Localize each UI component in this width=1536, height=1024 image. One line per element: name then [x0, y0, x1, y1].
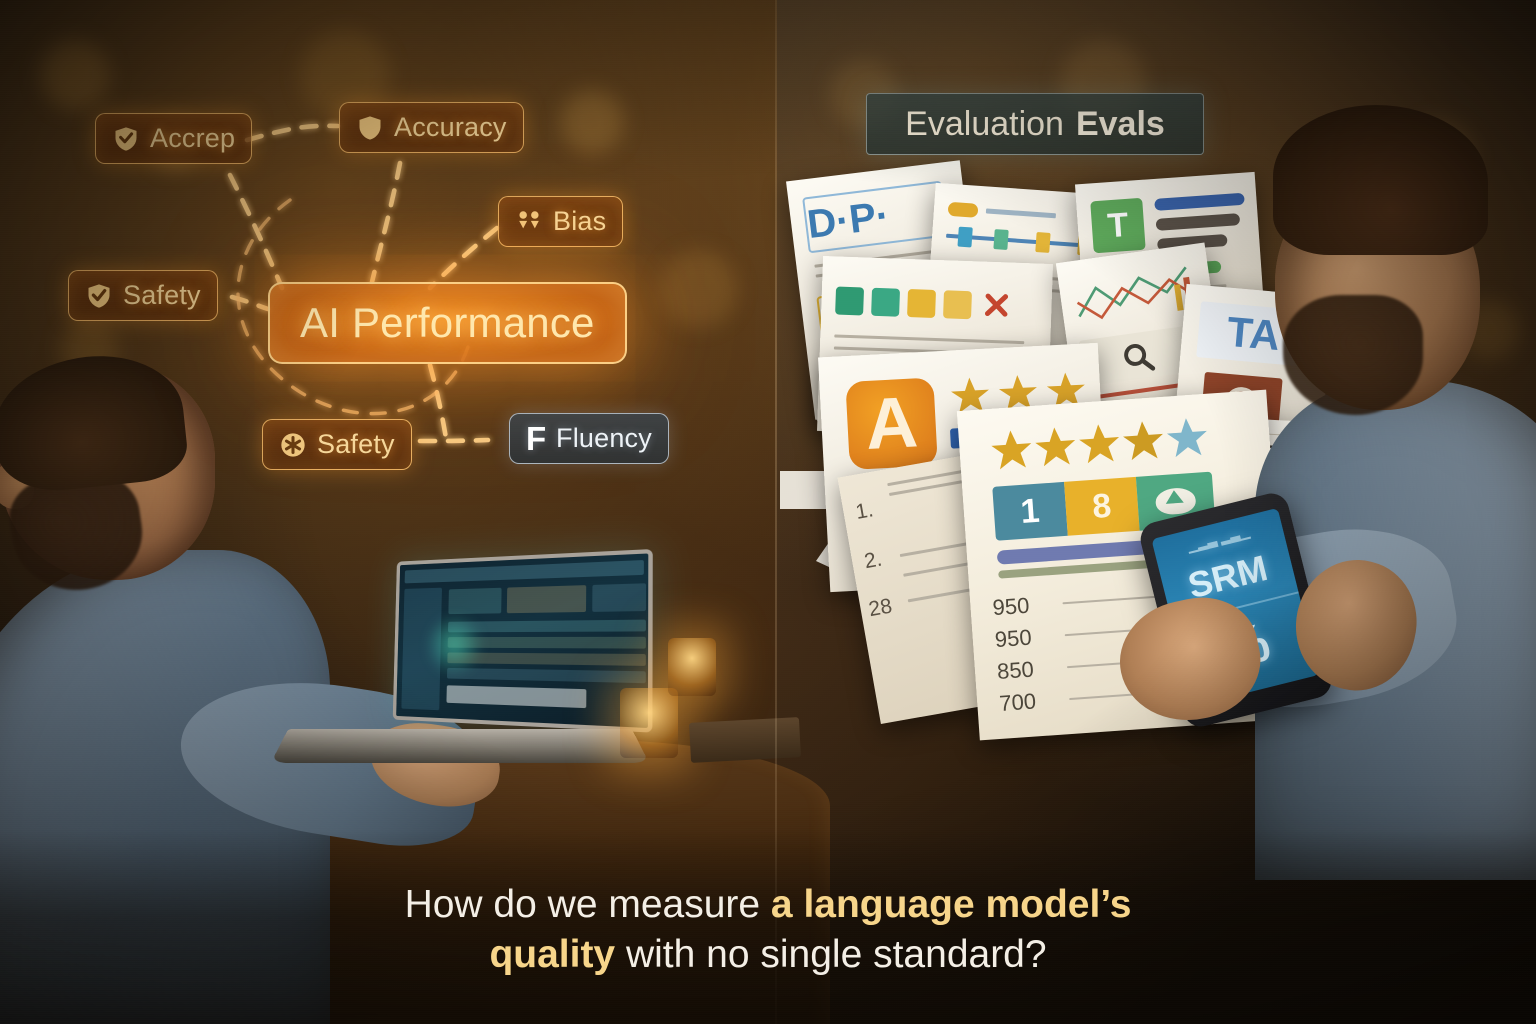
person-holding-phone	[1255, 105, 1536, 865]
legend-chip	[948, 202, 979, 218]
list-number: 2.	[863, 548, 884, 575]
caption-plain: with no single standard?	[615, 933, 1046, 976]
caption-highlight: quality	[489, 933, 615, 976]
dashboard-card	[448, 588, 501, 614]
node-label: Fluency	[556, 423, 652, 454]
shield-check-icon	[112, 125, 140, 153]
node-safety-left[interactable]: Safety	[68, 270, 218, 321]
report-score: 700	[998, 688, 1036, 716]
node-safety-bottom[interactable]: Safety	[262, 419, 412, 470]
node-accrep[interactable]: Accrep	[95, 113, 252, 164]
shield-check-icon	[85, 282, 113, 310]
node-accuracy[interactable]: Accuracy	[339, 102, 524, 153]
report-tile-2: 8	[1064, 477, 1140, 536]
node-label: Accrep	[150, 123, 235, 154]
node-label: Safety	[123, 280, 201, 311]
book-stack	[689, 717, 801, 763]
caption-line-1: How do we measure a language model’s	[0, 880, 1536, 930]
caption-highlight: a language model’s	[771, 883, 1131, 926]
title-regular: Evaluation	[905, 105, 1064, 144]
laptop-screen[interactable]	[393, 549, 653, 733]
title-bold: Evals	[1076, 105, 1165, 144]
caption-plain: How do we measure	[405, 883, 771, 926]
report-tile-1: 1	[992, 482, 1068, 541]
dashboard-topbar	[405, 560, 644, 583]
person-left-hair	[0, 347, 190, 496]
node-label: Bias	[553, 206, 606, 237]
report-score: 950	[992, 593, 1030, 621]
caption-line-2: quality with no single standard?	[0, 930, 1536, 980]
asterisk-circle-icon	[279, 431, 307, 459]
dashboard-card	[507, 585, 586, 613]
doc-headline: A	[845, 377, 937, 469]
list-number: 28	[867, 594, 894, 622]
shield-icon	[356, 114, 384, 142]
report-score: 850	[996, 657, 1034, 685]
people-balance-icon	[515, 208, 543, 236]
caption: How do we measure a language model’s qua…	[0, 880, 1536, 980]
node-label: Safety	[317, 429, 395, 460]
node-ai-performance[interactable]: AI Performance	[268, 282, 627, 364]
candle-large	[668, 638, 716, 696]
laptop-keyboard[interactable]	[271, 729, 649, 763]
poster-canvas: Accrep Accuracy Bias Safety AI Performan…	[0, 0, 1536, 1024]
doc-headline-box	[802, 181, 948, 254]
node-fluency[interactable]: F Fluency	[509, 413, 669, 464]
list-number: 1.	[854, 498, 875, 525]
candle-small	[620, 688, 678, 758]
five-star-rating-icon	[988, 414, 1211, 477]
person-right-hair	[1273, 105, 1488, 255]
node-bias[interactable]: Bias	[498, 196, 623, 247]
node-label: AI Performance	[300, 299, 595, 347]
node-label: Accuracy	[394, 112, 507, 143]
dashboard-input[interactable]	[446, 685, 586, 708]
laptop[interactable]	[270, 555, 670, 805]
evaluation-title-panel: Evaluation Evals	[866, 93, 1204, 155]
doc-headline: T	[1090, 198, 1146, 254]
letter-f-icon: F	[526, 425, 546, 453]
report-score: 950	[994, 625, 1032, 653]
person-right-beard	[1283, 295, 1423, 415]
search-icon	[1117, 337, 1158, 378]
screen-glow	[423, 616, 487, 675]
cross-icon	[981, 290, 1012, 321]
panel-divider	[775, 0, 777, 1024]
dashboard-card	[592, 583, 646, 612]
